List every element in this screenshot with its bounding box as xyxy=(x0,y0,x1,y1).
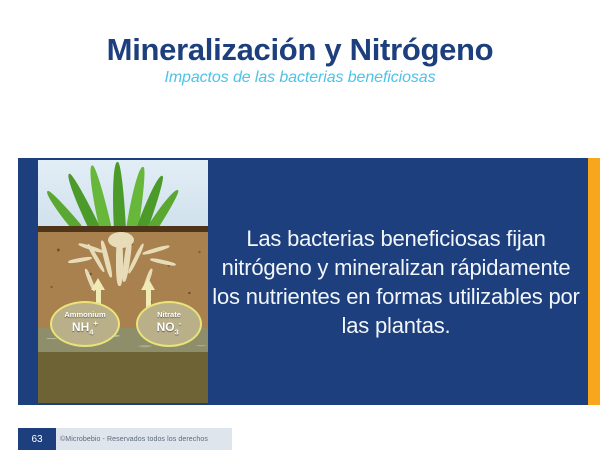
ammonium-label: Ammonium xyxy=(64,311,105,319)
nitrate-bubble: Nitrate NO3- xyxy=(136,301,202,347)
page-title: Mineralización y Nitrógeno xyxy=(0,34,600,67)
soil-nitrogen-cycle-image: Ammonium NH4+ Nitrate NO3- xyxy=(38,160,208,403)
statement-block: Las bacterias beneficiosas fijan nitróge… xyxy=(212,168,580,396)
ammonium-formula-main: NH xyxy=(72,320,89,334)
page-number-badge: 63 xyxy=(18,428,56,450)
nitrate-formula-main: NO xyxy=(157,320,175,334)
copyright-text: ©Microbebio - Reservados todos los derec… xyxy=(60,428,208,450)
nitrate-label: Nitrate xyxy=(157,311,181,319)
title-block: Mineralización y Nitrógeno Impactos de l… xyxy=(0,34,600,87)
accent-strip xyxy=(588,158,600,405)
nitrate-formula: NO3- xyxy=(157,320,182,337)
ammonium-formula: NH4+ xyxy=(72,320,98,337)
nitrate-formula-sup: - xyxy=(179,319,182,328)
statement-text: Las bacterias beneficiosas fijan nitróge… xyxy=(212,224,580,341)
subsoil-layer xyxy=(38,352,208,403)
uptake-arrow-icon xyxy=(141,278,155,290)
uptake-arrow-icon xyxy=(91,278,105,290)
ammonium-formula-sup: + xyxy=(93,319,98,328)
page-subtitle: Impactos de las bacterias beneficiosas xyxy=(0,69,600,87)
nitrate-formula-sub: 3 xyxy=(175,327,179,336)
ammonium-bubble: Ammonium NH4+ xyxy=(50,301,120,347)
ammonium-formula-sub: 4 xyxy=(89,327,93,336)
